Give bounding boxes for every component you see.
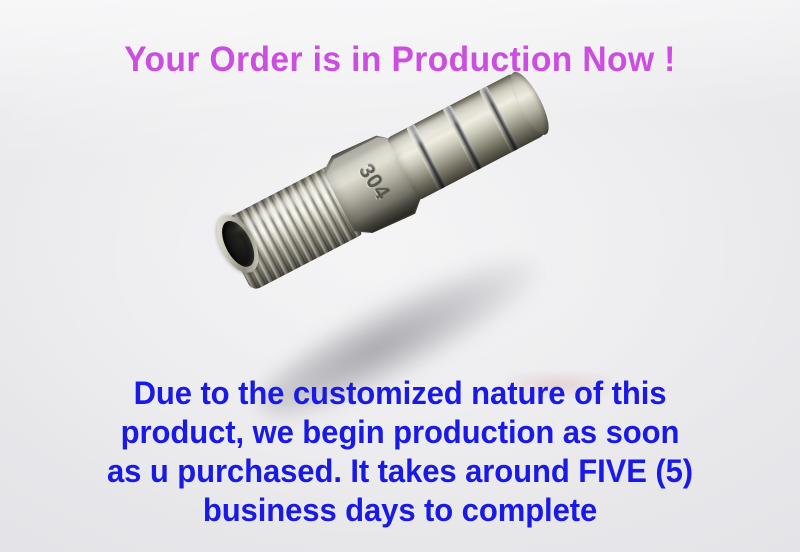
body-copy: Due to the customized nature of this pro… bbox=[0, 374, 800, 530]
barbed-end bbox=[387, 71, 549, 201]
promo-banner: Your Order is in Production Now ! 304 Du… bbox=[0, 0, 800, 552]
copy-line: product, we begin production as soon bbox=[12, 413, 788, 452]
copy-line: Due to the customized nature of this bbox=[12, 374, 788, 413]
headline-text: Your Order is in Production Now ! bbox=[16, 38, 784, 82]
bore-opening bbox=[216, 216, 261, 272]
barb-groove bbox=[443, 105, 483, 171]
barb-groove bbox=[406, 124, 446, 190]
specular-highlight bbox=[225, 74, 525, 240]
threaded-end bbox=[217, 166, 363, 292]
hose-barb-fitting: 304 bbox=[211, 57, 557, 304]
copy-line: as u purchased. It takes around FIVE (5) bbox=[12, 452, 788, 491]
hex-body bbox=[318, 127, 429, 243]
copy-line: business days to complete bbox=[12, 491, 788, 530]
bore-rim bbox=[208, 209, 267, 280]
hex-facet-highlight bbox=[322, 131, 395, 179]
grade-stamp-304: 304 bbox=[346, 152, 401, 214]
barb-groove bbox=[479, 86, 519, 152]
hex-facet-shadow bbox=[351, 188, 426, 240]
